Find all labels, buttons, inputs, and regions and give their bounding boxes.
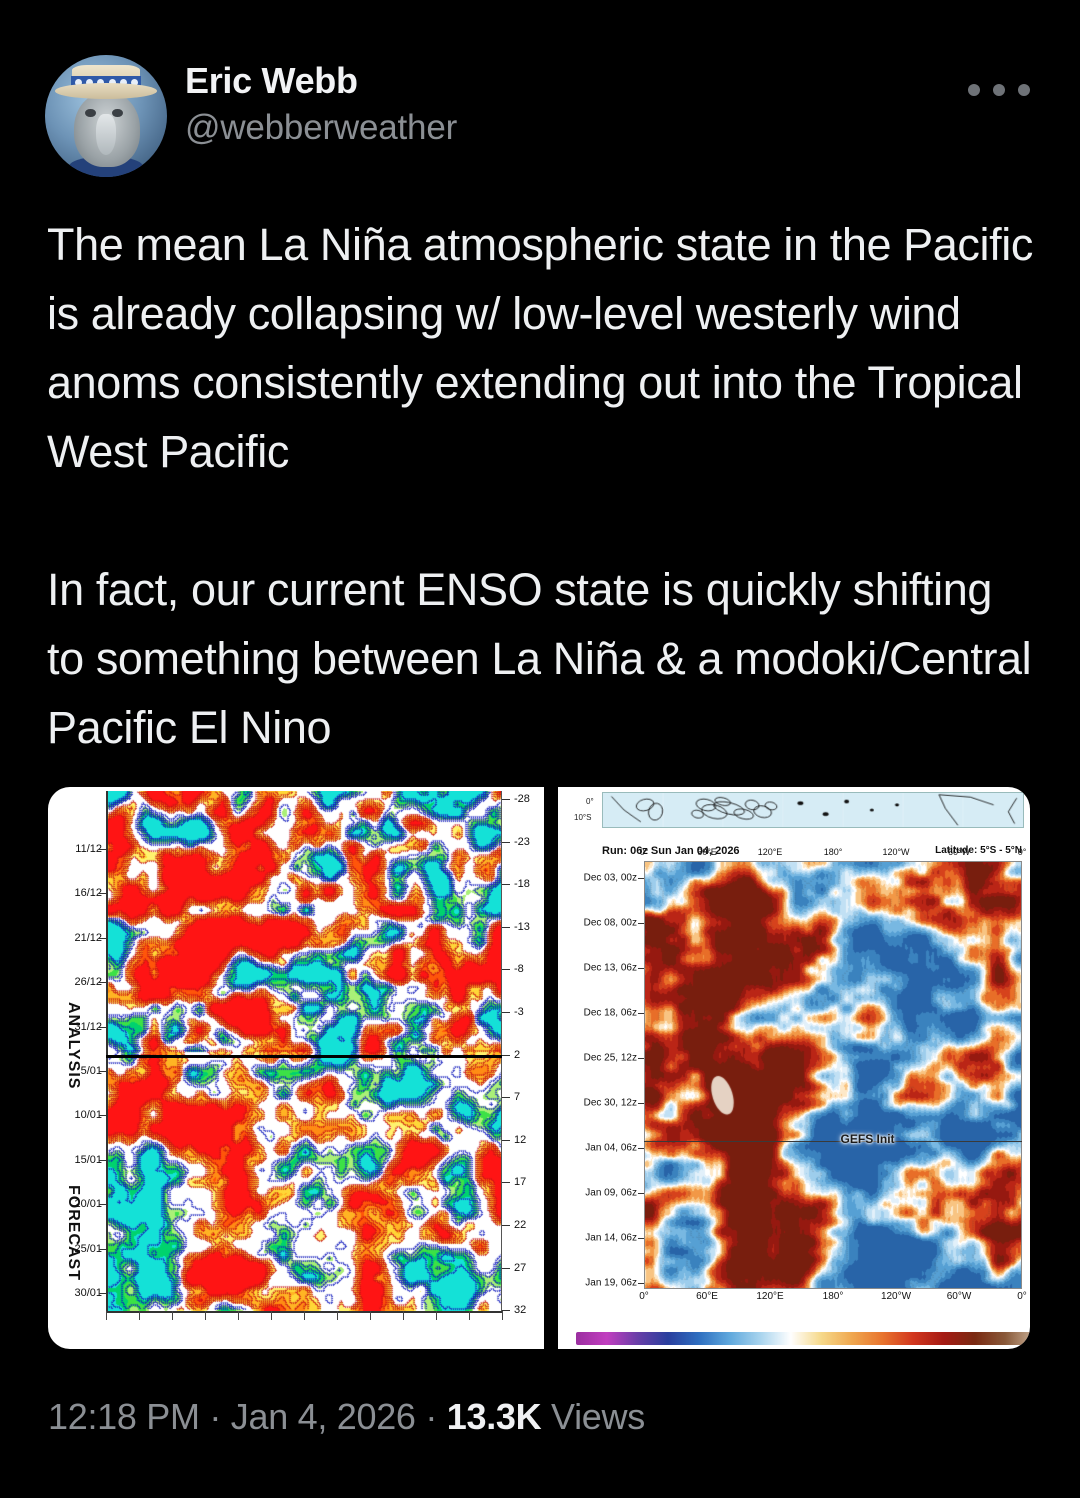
- avatar-nose: [96, 114, 116, 155]
- left-chart-xtick-4: [238, 1311, 239, 1320]
- left-chart-ytickmark-2: [99, 938, 106, 939]
- footer-separator-2: ·: [416, 1396, 447, 1437]
- left-chart-rtick-10: 22: [514, 1219, 526, 1231]
- latitude-label: Latitude: 5°S - 5°N: [935, 845, 1022, 856]
- left-chart-xtick-2: [172, 1311, 173, 1320]
- left-chart-xtick-3: [205, 1311, 206, 1320]
- left-chart-rtick-4: -8: [514, 963, 524, 975]
- right-chart-ytick-6: Jan 04, 06z: [585, 1142, 637, 1153]
- ellipsis-icon[interactable]: [968, 77, 1030, 103]
- left-chart-ytickmark-8: [99, 1204, 106, 1205]
- left-chart-rtickmark-4: [502, 969, 510, 970]
- map-xtick-3: 180°: [824, 847, 843, 857]
- right-chart-ytick-8: Jan 14, 06z: [585, 1232, 637, 1243]
- timestamp-date: Jan 4, 2026: [231, 1396, 416, 1437]
- left-chart-rtickmark-11: [502, 1268, 510, 1269]
- left-chart-xtick-11: [469, 1311, 470, 1320]
- left-chart-rtickmark-8: [502, 1140, 510, 1141]
- right-chart-canvas: [645, 862, 1022, 1289]
- left-chart-xtick-10: [436, 1311, 437, 1320]
- analysis-forecast-divider: [106, 1055, 502, 1058]
- left-chart-ytickmark-9: [99, 1249, 106, 1250]
- left-chart-rtickmark-12: [502, 1310, 510, 1311]
- left-chart-rtick-5: -3: [514, 1006, 524, 1018]
- tweet-card: Eric Webb @webberweather The mean La Niñ…: [0, 0, 1080, 1498]
- right-chart-plot-area: [644, 861, 1022, 1289]
- right-chart-xtick-2: 120°E: [756, 1291, 783, 1302]
- right-chart-ytick-4: Dec 25, 12z: [584, 1052, 637, 1063]
- left-chart-right-axis: -28-23-18-13-8-3271217222732: [502, 787, 544, 1349]
- left-chart-ytick-0: 11/12: [75, 843, 102, 855]
- left-chart-rtickmark-0: [502, 799, 510, 800]
- views-count: 13.3K: [447, 1396, 542, 1437]
- left-chart-rtick-0: -28: [514, 793, 530, 805]
- equatorial-basemap: [602, 792, 1024, 828]
- left-chart-rtickmark-9: [502, 1182, 510, 1183]
- left-chart-ytickmark-10: [99, 1293, 106, 1294]
- map-lat-tick-0: 0°: [586, 797, 594, 806]
- left-chart-ytickmark-0: [99, 849, 106, 850]
- left-chart-rtick-6: 2: [514, 1049, 520, 1061]
- left-chart-rtickmark-2: [502, 884, 510, 885]
- right-chart-xtick-0: 0°: [639, 1291, 649, 1302]
- left-chart-ytickmark-7: [99, 1160, 106, 1161]
- right-chart-xtick-5: 60°W: [947, 1291, 972, 1302]
- left-chart-ytick-2: 21/12: [74, 932, 102, 944]
- right-chart-ytick-5: Dec 30, 12z: [584, 1097, 637, 1108]
- left-chart-canvas: [108, 791, 502, 1311]
- footer-separator-1: ·: [200, 1396, 231, 1437]
- gefs-init-line: GEFS Init: [644, 1141, 1022, 1142]
- left-chart-ytick-3: 26/12: [74, 976, 102, 988]
- chart-panel-hovmoller-contour[interactable]: 11/1216/1221/1226/1231/125/0110/0115/012…: [48, 787, 544, 1349]
- left-chart-rtick-7: 7: [514, 1091, 520, 1103]
- basemap-coastline-canvas: [603, 793, 1023, 827]
- left-chart-xtick-0: [106, 1311, 107, 1320]
- avatar[interactable]: [45, 55, 167, 177]
- map-xtick-4: 120°W: [882, 847, 909, 857]
- left-chart-rtick-8: 12: [514, 1134, 526, 1146]
- left-chart-rtickmark-3: [502, 927, 510, 928]
- left-chart-rtick-11: 27: [514, 1262, 526, 1274]
- left-chart-ytickmark-5: [99, 1071, 106, 1072]
- right-chart-ytick-0: Dec 03, 00z: [584, 873, 637, 884]
- right-chart-ytick-1: Dec 08, 00z: [584, 918, 637, 929]
- right-chart-ytick-2: Dec 13, 06z: [584, 963, 637, 974]
- left-chart-xtick-12: [502, 1311, 503, 1320]
- left-chart-xtick-5: [271, 1311, 272, 1320]
- avatar-hat-brim: [55, 83, 157, 99]
- tweet-footer: 12:18 PM · Jan 4, 2026 · 13.3K Views: [48, 1396, 645, 1438]
- left-chart-rtick-1: -23: [514, 836, 530, 848]
- display-name[interactable]: Eric Webb: [185, 59, 457, 103]
- left-chart-rtick-9: 17: [514, 1176, 526, 1188]
- label-analysis: ANALYSIS: [64, 1002, 82, 1089]
- left-chart-bottom-ticks: [106, 1311, 502, 1321]
- left-chart-ytickmark-6: [99, 1115, 106, 1116]
- left-chart-ytick-10: 30/01: [74, 1287, 102, 1299]
- right-chart-ytick-7: Jan 09, 06z: [585, 1187, 637, 1198]
- timestamp-time: 12:18 PM: [48, 1396, 200, 1437]
- left-chart-xtick-7: [337, 1311, 338, 1320]
- left-chart-ytickmark-4: [99, 1027, 106, 1028]
- left-chart-rtickmark-6: [502, 1055, 510, 1056]
- right-chart-xtick-1: 60°E: [696, 1291, 718, 1302]
- tweet-header: Eric Webb @webberweather: [45, 55, 1035, 183]
- right-chart-xtick-4: 120°W: [881, 1291, 911, 1302]
- right-chart-xtick-6: 0°: [1017, 1291, 1027, 1302]
- left-chart-rtick-12: 32: [514, 1304, 526, 1316]
- left-chart-rtick-3: -13: [514, 921, 530, 933]
- left-chart-rtickmark-1: [502, 842, 510, 843]
- map-xtick-2: 120°E: [758, 847, 783, 857]
- left-chart-ytick-1: 16/12: [74, 887, 102, 899]
- views-label: Views: [541, 1396, 645, 1437]
- left-chart-xtick-9: [403, 1311, 404, 1320]
- tweet-media[interactable]: 11/1216/1221/1226/1231/125/0110/0115/012…: [48, 787, 1030, 1349]
- right-chart-x-axis: 0°60°E120°E180°120°W60°W0°: [644, 1289, 1022, 1305]
- author-identity: Eric Webb @webberweather: [185, 59, 457, 153]
- left-chart-rtickmark-10: [502, 1225, 510, 1226]
- left-chart-xtick-6: [304, 1311, 305, 1320]
- gefs-init-label: GEFS Init: [841, 1132, 895, 1146]
- user-handle[interactable]: @webberweather: [185, 103, 457, 153]
- left-chart-plot-area: [106, 791, 502, 1311]
- chart-panel-gefs-hovmoller[interactable]: 0° 10°S 0°60°E120°E180°120°W60°W0° Run: …: [558, 787, 1030, 1349]
- left-chart-rtickmark-7: [502, 1097, 510, 1098]
- map-lat-tick-10s: 10°S: [574, 813, 591, 822]
- run-label: Run: 06z Sun Jan 04, 2026: [602, 845, 740, 857]
- panel-divider: [544, 787, 558, 1349]
- left-chart-xtick-1: [139, 1311, 140, 1320]
- colorbar: [576, 1332, 1030, 1345]
- left-chart-ytick-6: 10/01: [74, 1109, 102, 1121]
- tweet-text: The mean La Niña atmospheric state in th…: [47, 210, 1037, 762]
- left-chart-ytickmark-3: [99, 982, 106, 983]
- left-chart-rtick-2: -18: [514, 878, 530, 890]
- right-chart-y-axis: Dec 03, 00zDec 08, 00zDec 13, 06zDec 18,…: [558, 861, 644, 1289]
- right-chart-xtick-3: 180°: [823, 1291, 844, 1302]
- right-chart-ytick-9: Jan 19, 06z: [585, 1277, 637, 1288]
- left-chart-ytickmark-1: [99, 893, 106, 894]
- left-chart-rtickmark-5: [502, 1012, 510, 1013]
- right-chart-ytick-3: Dec 18, 06z: [584, 1007, 637, 1018]
- label-forecast: FORECAST: [64, 1185, 82, 1281]
- left-chart-ytick-7: 15/01: [74, 1154, 102, 1166]
- left-chart-xtick-8: [370, 1311, 371, 1320]
